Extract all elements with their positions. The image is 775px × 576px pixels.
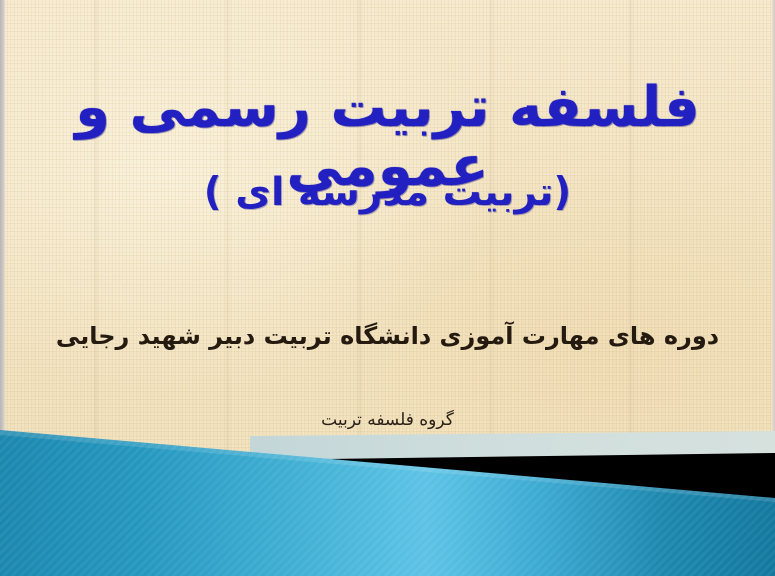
title-slide: فلسفه تربیت رسمی و عمومی (تربیت مدرسه ای… bbox=[0, 0, 775, 576]
page-subtitle: (تربیت مدرسه ای ) bbox=[0, 172, 775, 215]
organization-line: دوره های مهارت آموزی دانشگاه تربیت دبیر … bbox=[0, 322, 775, 351]
slide-text-layer: فلسفه تربیت رسمی و عمومی (تربیت مدرسه ای… bbox=[0, 0, 775, 576]
department-line: گروه فلسفه تربیت bbox=[0, 410, 775, 430]
